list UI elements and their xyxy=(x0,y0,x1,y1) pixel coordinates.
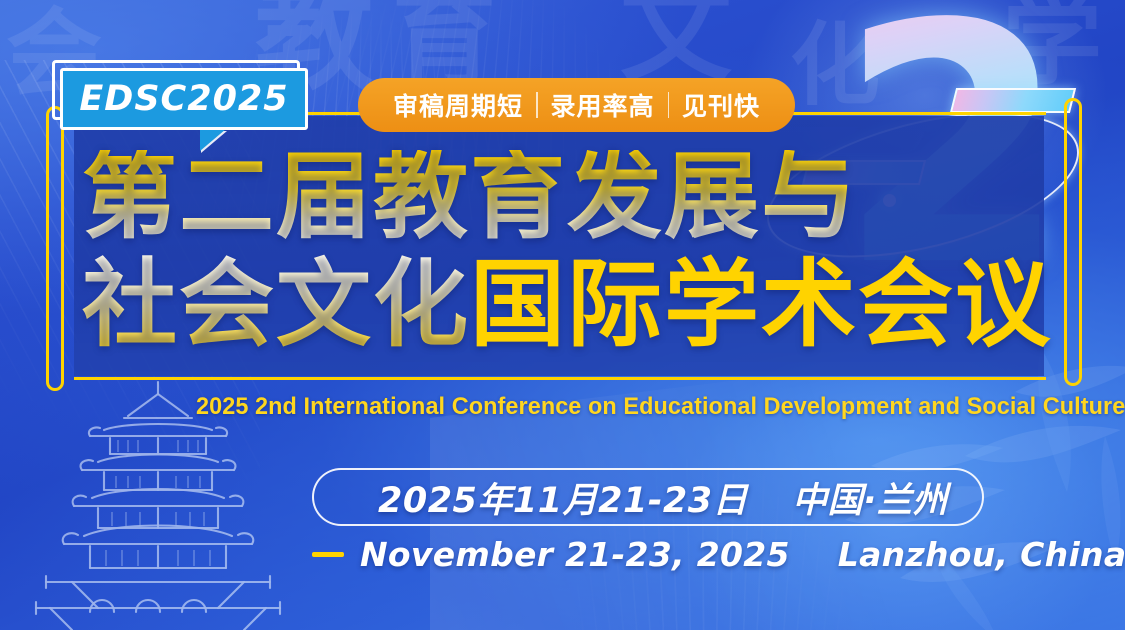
title-line-1: 第二届教育发展与 xyxy=(82,150,858,245)
calligraphy-mark-2: 育 xyxy=(392,0,496,90)
tagline-item-2: 录用率高 xyxy=(538,87,668,123)
date-chinese: 2025年11月21-23日 xyxy=(378,472,748,523)
frame-left-cap xyxy=(46,106,64,391)
city-english: Lanzhou, China xyxy=(838,535,1125,574)
tagline-pill: 审稿周期短 录用率高 见刊快 xyxy=(358,78,795,132)
conference-code-badge: EDSC2025 xyxy=(60,68,308,130)
dash-icon xyxy=(312,552,344,557)
tagline-item-3: 见刊快 xyxy=(669,87,773,123)
city-chinese: 中国·兰州 xyxy=(792,472,948,523)
date-location-box: 2025年11月21-23日 中国·兰州 xyxy=(312,468,984,526)
english-subtitle: 2025 2nd International Conference on Edu… xyxy=(196,393,1125,421)
title-line-2-part-2: 国际学术会议 xyxy=(470,250,1052,360)
title-line-2: 社会文化国际学术会议 xyxy=(82,258,1052,353)
frame-bottom-line xyxy=(74,377,1046,380)
conference-banner: 教 育 文 化 学 会 xyxy=(0,0,1125,630)
tagline-item-1: 审稿周期短 xyxy=(380,87,536,123)
date-location-english: November 21-23, 2025 Lanzhou, China xyxy=(312,535,1125,574)
conference-code-label: EDSC2025 xyxy=(79,79,288,119)
title-line-2-part-1: 社会文化 xyxy=(82,250,470,360)
date-english: November 21-23, 2025 xyxy=(360,535,790,574)
accent-bar-upper xyxy=(950,88,1076,113)
calligraphy-mark-3: 文 xyxy=(620,0,732,88)
